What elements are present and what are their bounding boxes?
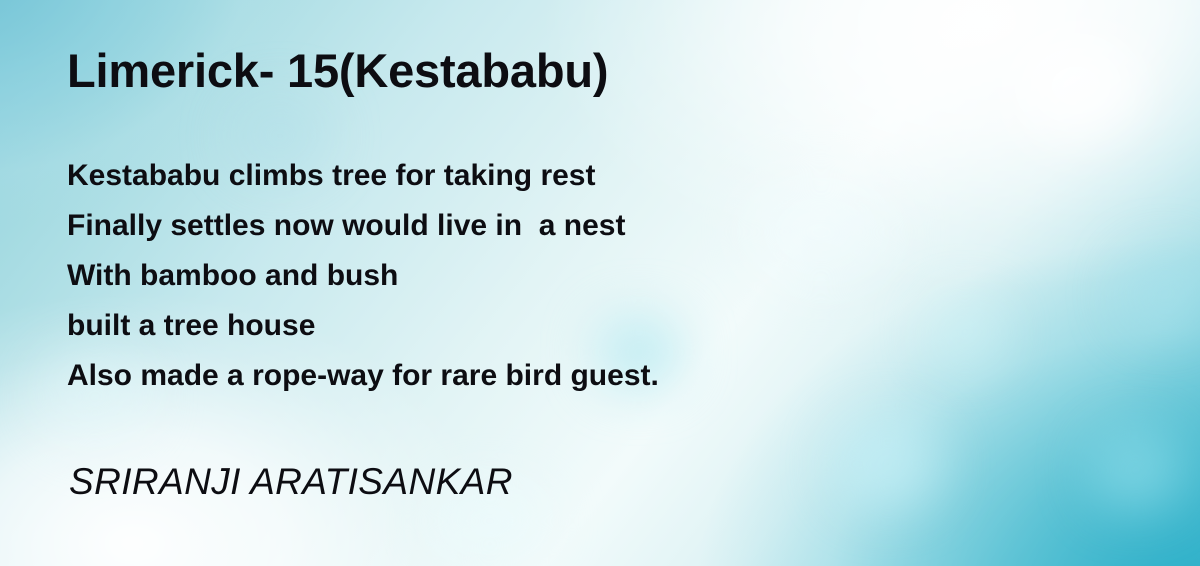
poem-text-block: Limerick- 15(Kestababu) Kestababu climbs… [67,0,1147,566]
poem-line: Kestababu climbs tree for taking rest [67,151,1067,201]
poem-body: Kestababu climbs tree for taking rest Fi… [67,151,1067,401]
poem-author-name: SRIRANJI ARATISANKAR [69,461,513,503]
poem-line: Finally settles now would live in a nest [67,201,1067,251]
poem-line: built a tree house [67,301,1067,351]
poem-line: With bamboo and bush [67,251,1067,301]
poem-title: Limerick- 15(Kestababu) [67,46,608,95]
poem-image-card: Limerick- 15(Kestababu) Kestababu climbs… [0,0,1200,566]
poem-line: Also made a rope-way for rare bird guest… [67,351,1067,401]
